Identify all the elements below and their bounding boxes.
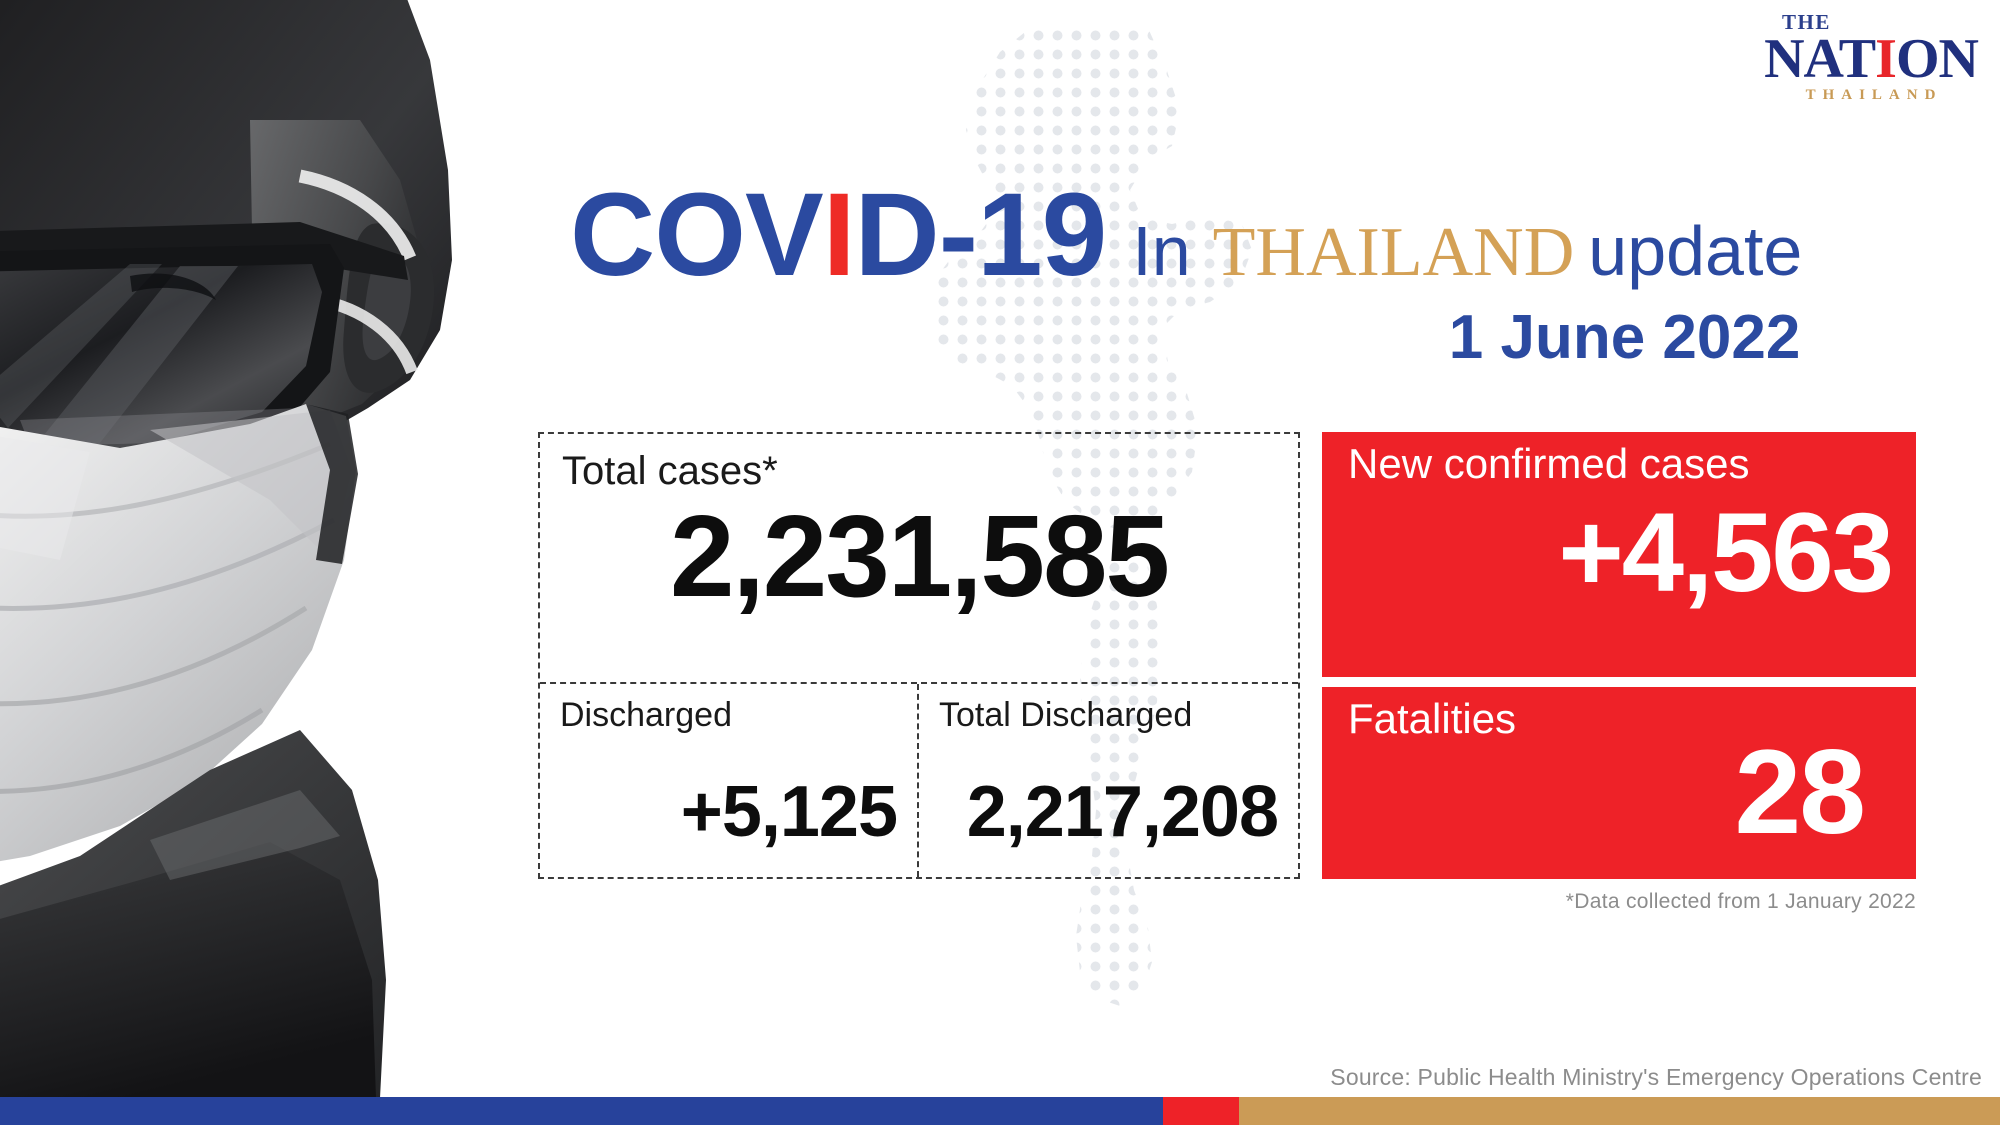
- headline-update-word: update: [1588, 216, 1802, 286]
- logo-nation-suffix: ON: [1896, 28, 1978, 90]
- new-confirmed-cases-box: New confirmed cases +4,563: [1322, 432, 1916, 677]
- headline-main-line: COVID-19 In THAILAND update: [570, 176, 1802, 294]
- stats-panel: Total cases* 2,231,585 Discharged +5,125…: [538, 432, 1300, 879]
- new-confirmed-cases-label: New confirmed cases: [1348, 442, 1896, 486]
- headline-block: COVID-19 In THAILAND update 1 June 2022: [570, 176, 1802, 373]
- bottom-bar-blue-segment: [0, 1097, 1163, 1125]
- headline-date: 1 June 2022: [570, 302, 1802, 373]
- new-confirmed-cases-value: +4,563: [1348, 500, 1896, 606]
- total-cases-label: Total cases*: [562, 450, 1276, 492]
- bottom-bar-red-segment: [1163, 1097, 1239, 1125]
- logo-nation-text: NATION: [1756, 31, 1986, 87]
- masked-person-photo: [0, 0, 560, 1098]
- logo-thailand-text: THAILAND: [1756, 88, 1986, 103]
- logo-nation-red-i: I: [1875, 28, 1896, 90]
- total-discharged-value: 2,217,208: [939, 771, 1278, 859]
- bottom-bar-gold-segment: [1239, 1097, 2000, 1125]
- discharged-cell: Discharged +5,125: [540, 684, 919, 877]
- total-discharged-cell: Total Discharged 2,217,208: [919, 684, 1298, 877]
- total-discharged-label: Total Discharged: [939, 698, 1278, 734]
- fatalities-value: 28: [1348, 735, 1896, 849]
- data-collected-footnote: *Data collected from 1 January 2022: [1322, 890, 1916, 914]
- total-cases-row: Total cases* 2,231,585: [540, 434, 1298, 684]
- covid-red-i: I: [823, 169, 855, 301]
- headline-in-word: In: [1132, 216, 1190, 286]
- fatalities-box: Fatalities 28: [1322, 687, 1916, 879]
- discharged-row: Discharged +5,125 Total Discharged 2,217…: [540, 684, 1298, 877]
- logo-nation-prefix: NAT: [1764, 28, 1875, 90]
- discharged-value: +5,125: [560, 771, 897, 859]
- covid-suffix: D-19: [855, 169, 1107, 301]
- headline-thailand-word: THAILAND: [1213, 218, 1575, 288]
- highlight-boxes: New confirmed cases +4,563 Fatalities 28: [1322, 432, 1916, 879]
- total-cases-value: 2,231,585: [562, 498, 1276, 614]
- covid-19-wordmark: COVID-19: [570, 176, 1106, 294]
- infographic-canvas: THE NATION THAILAND COVID-19 In THAILAND…: [0, 0, 2000, 1125]
- nation-thailand-logo: THE NATION THAILAND: [1756, 12, 1986, 103]
- discharged-label: Discharged: [560, 698, 897, 734]
- source-credit: Source: Public Health Ministry's Emergen…: [1330, 1064, 1982, 1091]
- covid-prefix: COV: [570, 169, 823, 301]
- bottom-color-bar: [0, 1097, 2000, 1125]
